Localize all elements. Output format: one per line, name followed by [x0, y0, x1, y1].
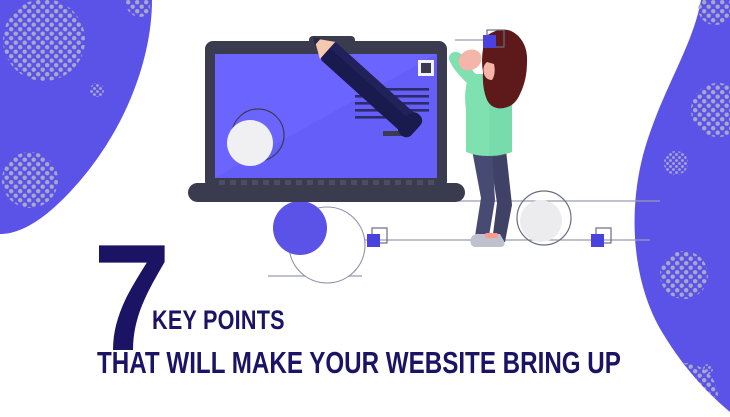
left-purple-blob: [0, 0, 154, 234]
solid-square: [483, 35, 496, 48]
dot-circle: [660, 251, 708, 299]
soft-gray-circle: [520, 200, 562, 242]
dot-circle: [2, 152, 58, 208]
solid-purple-circle: [273, 201, 327, 255]
dot-circle: [3, 0, 85, 81]
right-purple-blob: [628, 0, 730, 417]
woman-drawing-illustration: [449, 29, 527, 247]
dot-circle-small: [628, 349, 640, 361]
person-front-leg: [472, 150, 495, 236]
solid-square: [367, 234, 380, 247]
screen-white-circle: [227, 120, 273, 166]
solid-square: [591, 234, 604, 247]
dot-circle-small: [90, 83, 104, 97]
dot-circle-small: [664, 151, 688, 175]
poster-canvas: 7 KEY POINTS THAT WILL MAKE YOUR WEBSITE…: [0, 0, 730, 417]
laptop-base: [188, 183, 465, 202]
shoe-accent: [485, 233, 498, 238]
decor-circles: [273, 191, 571, 283]
dot-circle-small: [703, 364, 713, 374]
window-icon-inner: [421, 63, 431, 73]
poster-illustration: [0, 0, 730, 417]
